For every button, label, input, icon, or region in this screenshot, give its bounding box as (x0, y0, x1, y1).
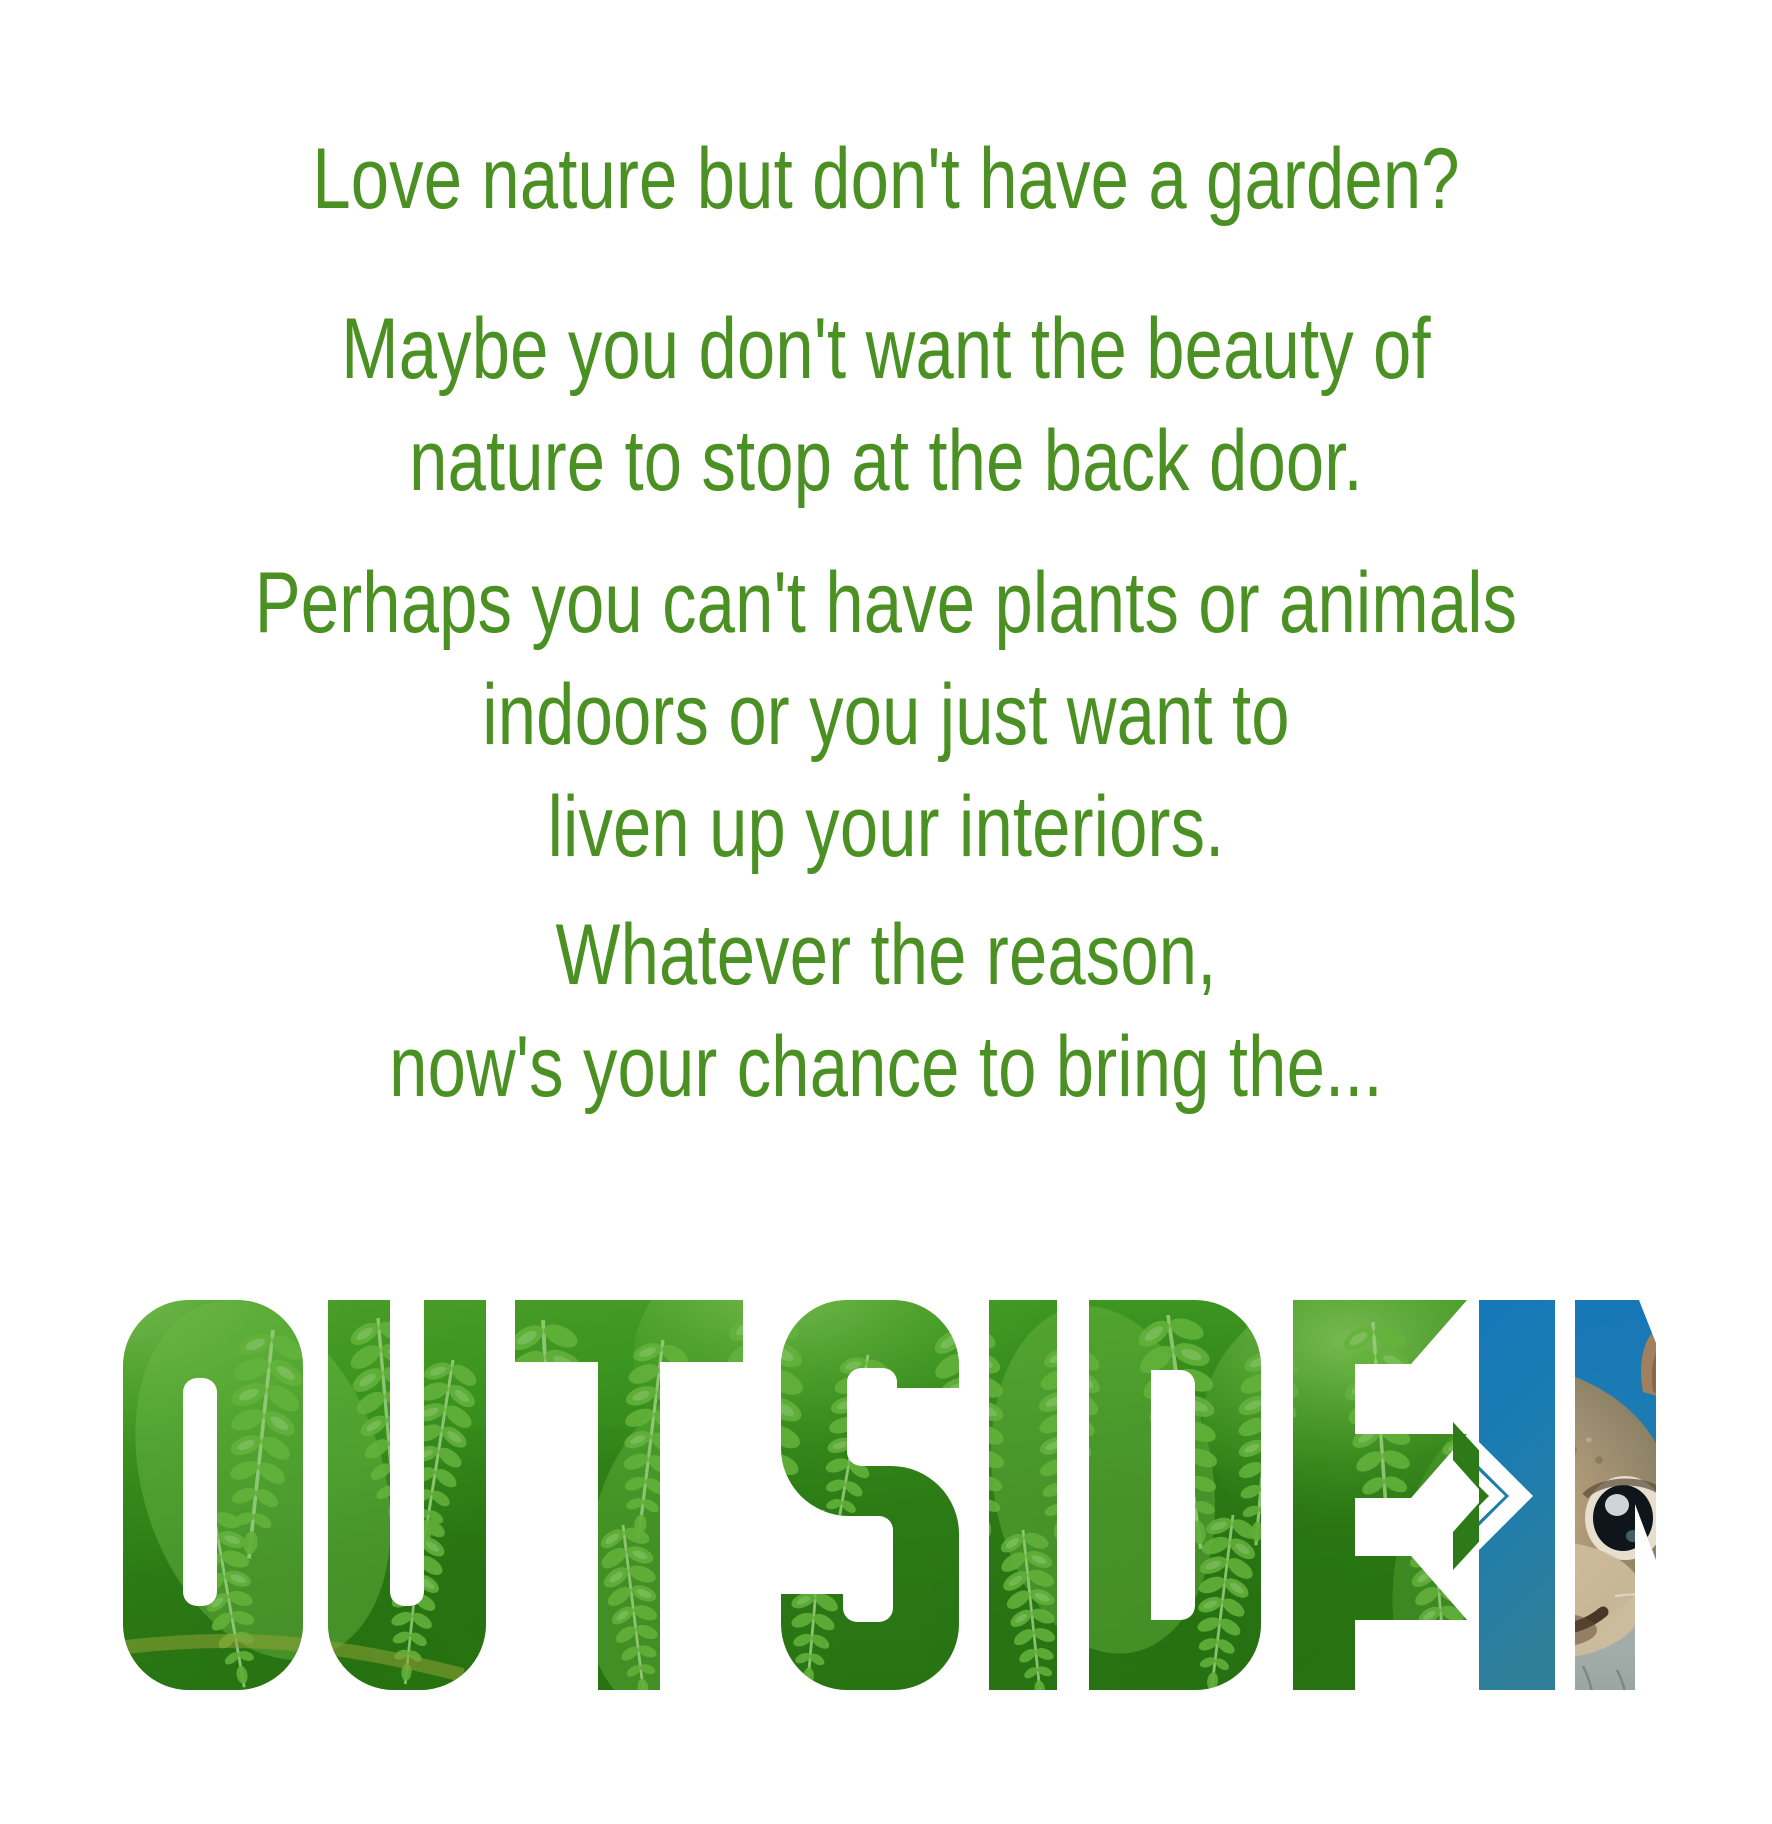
copy-line: now's your chance to bring the... (177, 1012, 1595, 1124)
headline-paragraph-1: Love nature but don't have a garden? (177, 124, 1595, 236)
copy-line: Whatever the reason, (177, 900, 1595, 1012)
copy-line: Perhaps you can't have plants or animals (177, 548, 1595, 660)
copy-line: liven up your interiors. (177, 772, 1595, 884)
copy-line: Maybe you don't want the beauty of (177, 294, 1595, 406)
poster-canvas: Love nature but don't have a garden? May… (0, 0, 1772, 1824)
headline-paragraph-3: Perhaps you can't have plants or animals… (177, 548, 1595, 883)
logo-letter-n-squirrel (1223, 1300, 1656, 1690)
headline-paragraph-2: Maybe you don't want the beauty of natur… (177, 294, 1595, 518)
copy-line: nature to stop at the back door. (177, 406, 1595, 518)
outside-in-logo: OUTSIDEIN (123, 1300, 1656, 1690)
copy-line: indoors or you just want to (177, 660, 1595, 772)
headline-paragraph-4: Whatever the reason, now's your chance t… (177, 900, 1595, 1124)
logo-word-outside (123, 1300, 1656, 1690)
logo-letter-i-blue (1423, 1300, 1573, 1690)
copy-line: Love nature but don't have a garden? (177, 124, 1595, 236)
